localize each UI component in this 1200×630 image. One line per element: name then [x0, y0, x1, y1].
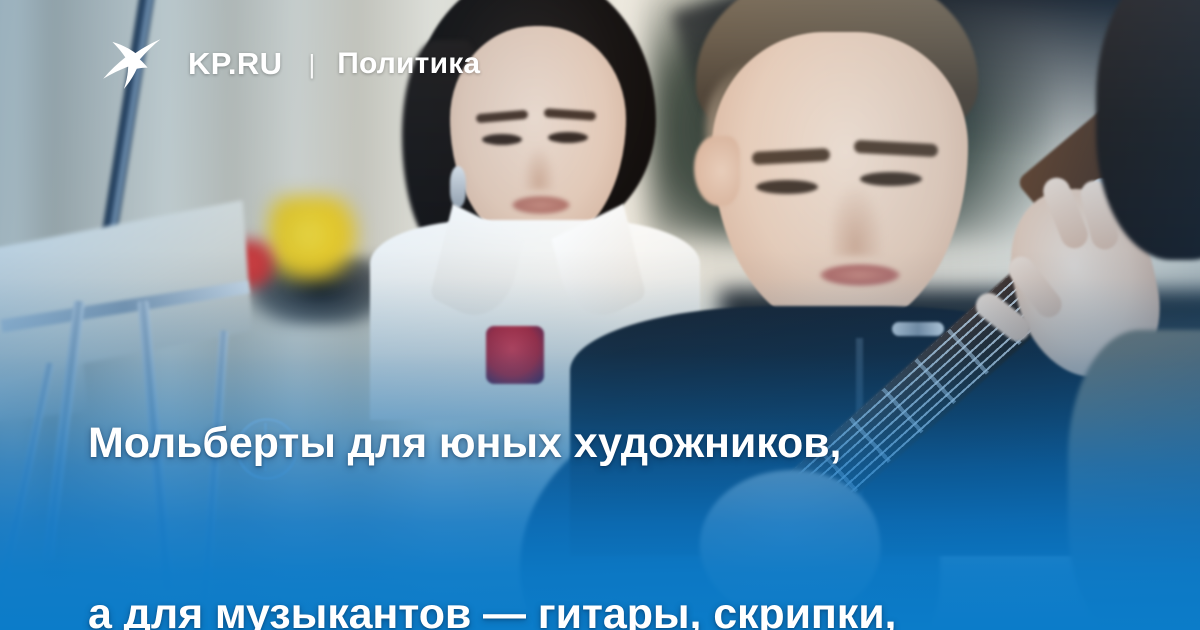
- girl-mouth: [512, 196, 570, 214]
- girl-nose: [522, 146, 556, 190]
- brand-name[interactable]: KP.RU: [188, 46, 282, 82]
- boy-face: [712, 32, 968, 332]
- headline-line-1: Мольберты для юных художников,: [88, 415, 1128, 472]
- girl-eye-left: [482, 134, 522, 145]
- boy-nose: [832, 184, 884, 256]
- swallow-bird-icon: [100, 38, 162, 90]
- brand-header: KP.RU | Политика: [100, 38, 480, 90]
- boy-eye-left: [756, 180, 818, 194]
- rubric-label[interactable]: Политика: [337, 47, 480, 81]
- headline-line-2: а для музыкантов — гитары, скрипки,: [88, 586, 1128, 630]
- girl-earring: [450, 166, 466, 208]
- social-share-card: KP.RU | Политика Мольберты для юных худо…: [0, 0, 1200, 630]
- boy-mouth: [820, 264, 900, 286]
- page-title: Мольберты для юных художников, а для муз…: [88, 301, 1128, 630]
- boy-ear: [694, 136, 740, 206]
- brand-separator: |: [308, 51, 315, 77]
- yellow-object-blur: [268, 196, 360, 282]
- girl-eye-right: [548, 132, 588, 143]
